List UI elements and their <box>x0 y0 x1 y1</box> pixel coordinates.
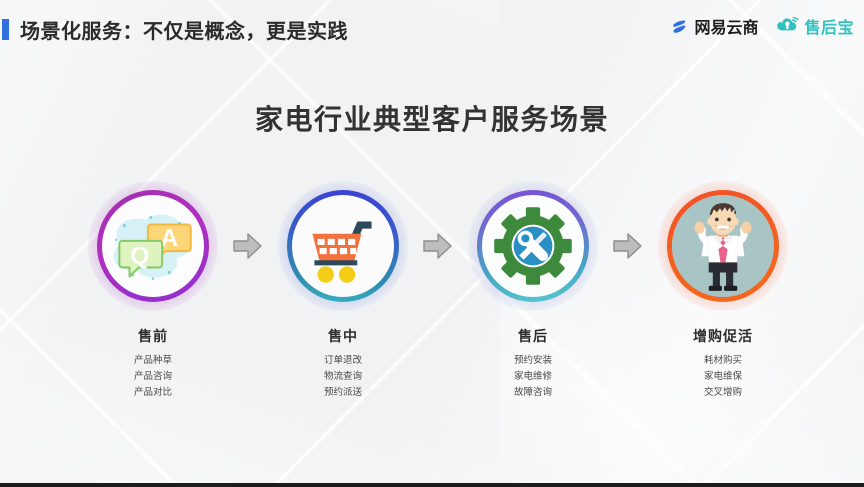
qa-speech-bubbles-icon: A Q <box>102 195 204 297</box>
caption-item: 交叉增购 <box>658 385 788 401</box>
brand-group: 网易云商 售后宝 <box>669 16 854 43</box>
brand-shouhoubao-label: 售后宝 <box>804 21 854 37</box>
caption-item: 产品种草 <box>88 353 218 369</box>
caption-item: 预约派送 <box>278 385 408 401</box>
caption-item: 家电维保 <box>658 369 788 385</box>
stage-node-after-sale[interactable] <box>468 181 598 311</box>
caption-item: 预约安装 <box>468 353 598 369</box>
svg-text:Q: Q <box>130 242 149 269</box>
stage-node-upsell[interactable] <box>658 181 788 311</box>
caption-item: 产品咨询 <box>88 369 218 385</box>
bottom-bar <box>0 483 864 487</box>
ring-border <box>477 190 589 302</box>
ring-border: A Q <box>97 190 209 302</box>
flow-arrow-icon <box>611 229 645 263</box>
brand-netease-cloud-business: 网易云商 <box>669 17 758 42</box>
gear-tools-icon <box>482 195 584 297</box>
caption-item: 耗材购买 <box>658 353 788 369</box>
flow-arrow-icon <box>421 229 455 263</box>
caption-item: 家电维修 <box>468 369 598 385</box>
ring-inner <box>672 195 774 297</box>
stage-node-in-sale[interactable] <box>278 181 408 311</box>
caption-after-sale: 售后 预约安装 家电维修 故障咨询 <box>468 326 598 401</box>
caption-item: 故障咨询 <box>468 385 598 401</box>
flow-arrow-icon <box>231 229 265 263</box>
ring-inner <box>482 195 584 297</box>
happy-businessman-icon <box>672 195 774 297</box>
header-title: 场景化服务：不仅是概念，更是实践 <box>20 15 348 44</box>
caption-upsell: 增购促活 耗材购买 家电维保 交叉增购 <box>658 326 788 401</box>
page-title: 家电行业典型客户服务场景 <box>0 98 864 138</box>
caption-item: 订单退改 <box>278 353 408 369</box>
brand-netease-label: 网易云商 <box>694 21 758 37</box>
caption-title: 增购促活 <box>658 326 788 346</box>
slide-header: 场景化服务：不仅是概念，更是实践 网易云商 <box>0 0 864 58</box>
caption-pre-sale: 售前 产品种草 产品咨询 产品对比 <box>88 326 218 401</box>
ring-border <box>667 190 779 302</box>
caption-item: 产品对比 <box>88 385 218 401</box>
caption-title: 售前 <box>88 326 218 346</box>
stage-node-pre-sale[interactable]: A Q <box>88 181 218 311</box>
stage-captions: 售前 产品种草 产品咨询 产品对比 售中 订单退改 物流查询 预约派送 售后 预… <box>88 326 788 401</box>
caption-title: 售后 <box>468 326 598 346</box>
caption-in-sale: 售中 订单退改 物流查询 预约派送 <box>278 326 408 401</box>
service-flow-diagram: A Q <box>88 176 788 316</box>
header-accent-bar <box>2 19 9 40</box>
shouhoubao-cloud-wrench-icon <box>775 16 799 43</box>
brand-shouhoubao: 售后宝 <box>775 16 854 43</box>
caption-item: 物流查询 <box>278 369 408 385</box>
ring-inner <box>292 195 394 297</box>
caption-title: 售中 <box>278 326 408 346</box>
ring-inner: A Q <box>102 195 204 297</box>
ring-border <box>287 190 399 302</box>
shopping-cart-icon <box>292 195 394 297</box>
netease-s-logo-icon <box>669 17 689 42</box>
slide-canvas: 场景化服务：不仅是概念，更是实践 网易云商 <box>0 0 864 487</box>
